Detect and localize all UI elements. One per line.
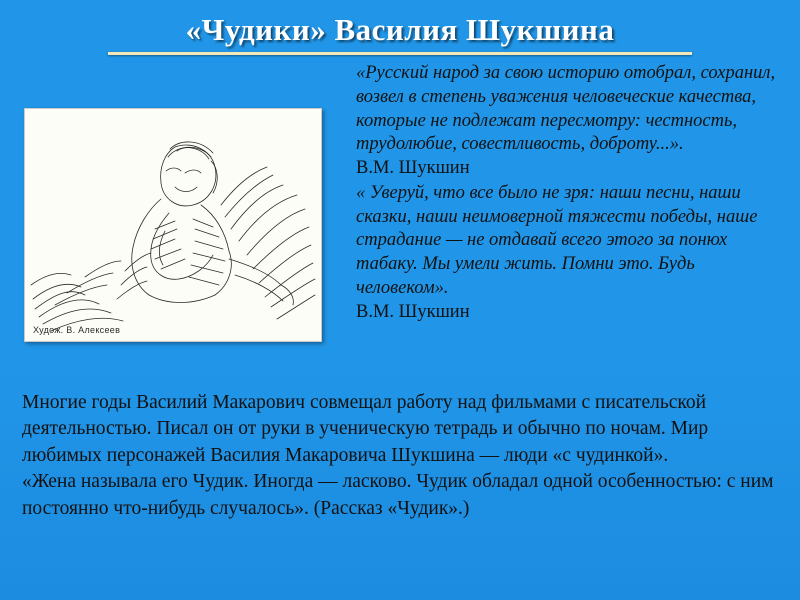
body-text-block: Многие годы Василий Макарович совмещал р… <box>22 390 786 522</box>
title-underline <box>108 52 692 55</box>
slide: «Чудики» Василия Шукшина <box>0 0 800 600</box>
quote-text-1: «Русский народ за свою историю отобрал, … <box>356 62 786 157</box>
page-title: «Чудики» Василия Шукшина <box>0 12 800 48</box>
quote-author-1: В.М. Шукшин <box>356 157 786 181</box>
quote-author-2: В.М. Шукшин <box>356 301 786 325</box>
quotes-block: «Русский народ за свою историю отобрал, … <box>356 62 786 325</box>
quote-text-2: « Уверуй, что все было не зря: наши песн… <box>356 182 786 301</box>
body-paragraph-2: «Жена называла его Чудик. Иногда — ласко… <box>22 469 786 522</box>
drawing-of-man-sitting-in-grass <box>25 109 321 341</box>
body-paragraph-1: Многие годы Василий Макарович совмещал р… <box>22 390 786 469</box>
illustration-frame: Худож. В. Алексеев <box>24 108 322 342</box>
illustration-caption: Худож. В. Алексеев <box>33 325 120 335</box>
